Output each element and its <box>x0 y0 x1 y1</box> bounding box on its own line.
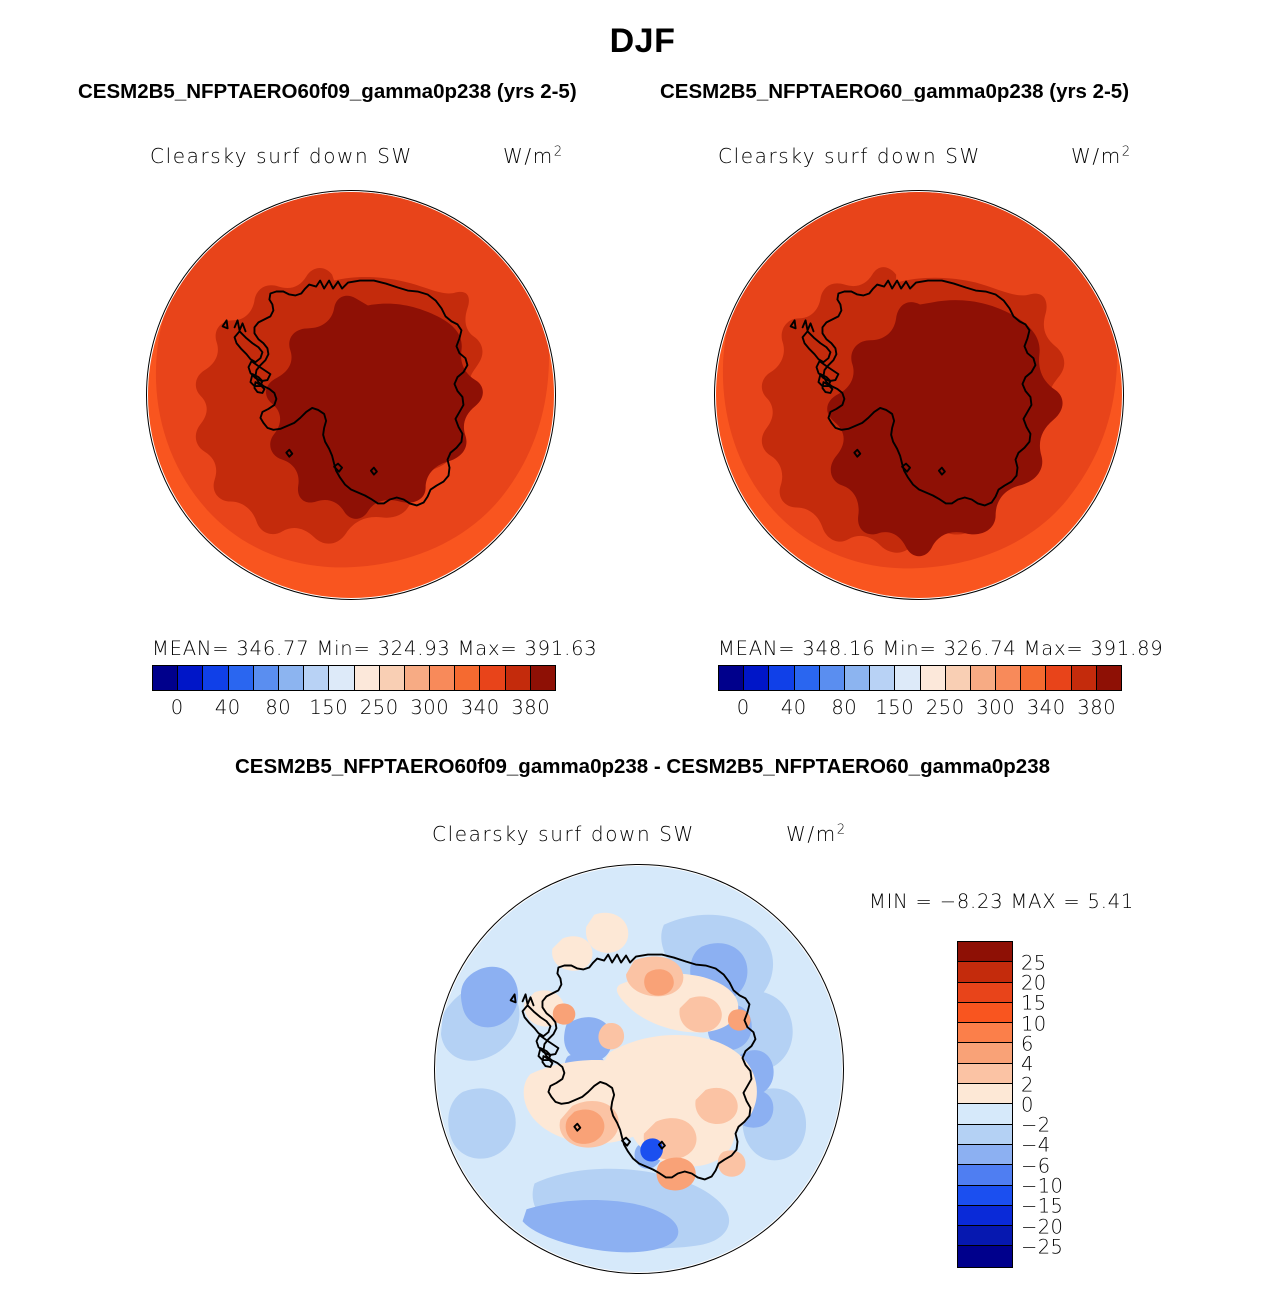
colorbar-left-cell-8 <box>355 666 380 690</box>
page-title: DJF <box>0 22 1285 61</box>
field-label-diff: Clearsky surf down SW <box>432 822 695 846</box>
colorbar-left-cell-1 <box>178 666 203 690</box>
colorbar-difference-cell-12 <box>958 1186 1012 1206</box>
colorbar-left-cell-3 <box>229 666 254 690</box>
colorbar-difference-cell-1 <box>958 962 1012 982</box>
colorbar-right-cells[interactable] <box>718 665 1122 691</box>
map-right-svg <box>715 191 1123 599</box>
colorbar-right-cell-14 <box>1072 666 1097 690</box>
colorbar-right-cell-8 <box>921 666 946 690</box>
unit-label-right: W/m2 <box>1071 144 1130 168</box>
colorbar-left-tick-7: 380 <box>511 696 550 719</box>
colorbar-difference-labels: 252015106420−2−4−6−10−15−20−25 <box>1021 941 1091 1271</box>
colorbar-difference-cell-4 <box>958 1023 1012 1043</box>
colorbar-left-cell-14 <box>506 666 531 690</box>
colorbar-left-tick-3: 150 <box>309 696 348 719</box>
colorbar-left-tick-1: 40 <box>215 696 241 719</box>
colorbar-right-tick-7: 380 <box>1077 696 1116 719</box>
diff-stats: MIN = −8.23 MAX = 5.41 <box>869 890 1134 913</box>
colorbar-difference-cell-8 <box>958 1104 1012 1124</box>
colorbar-left-cell-12 <box>455 666 480 690</box>
panel-title-right: CESM2B5_NFPTAERO60_gamma0p238 (yrs 2-5) <box>660 80 1129 104</box>
field-label-right: Clearsky surf down SW <box>718 144 981 168</box>
panel-title-left: CESM2B5_NFPTAERO60f09_gamma0p238 (yrs 2-… <box>78 80 577 104</box>
colorbar-right-cell-0 <box>719 666 744 690</box>
colorbar-difference-cell-5 <box>958 1043 1012 1063</box>
colorbar-right-cell-13 <box>1046 666 1071 690</box>
stats-left: MEAN= 346.77 Min= 324.93 Max= 391.63 <box>152 637 598 660</box>
colorbar-right-cell-5 <box>845 666 870 690</box>
colorbar-right-tick-5: 300 <box>976 696 1015 719</box>
colorbar-difference-cells[interactable] <box>957 941 1013 1268</box>
colorbar-difference-cell-7 <box>958 1084 1012 1104</box>
colorbar-right-cell-7 <box>895 666 920 690</box>
colorbar-left-tick-5: 300 <box>410 696 449 719</box>
colorbar-left[interactable]: 04080150250300340380 <box>152 665 556 691</box>
colorbar-left-cell-11 <box>430 666 455 690</box>
colorbar-difference-cell-0 <box>958 942 1012 962</box>
colorbar-left-cell-0 <box>153 666 178 690</box>
diff-panel-title: CESM2B5_NFPTAERO60f09_gamma0p238 - CESM2… <box>0 755 1285 779</box>
map-difference[interactable] <box>434 864 844 1274</box>
colorbar-difference-cell-2 <box>958 983 1012 1003</box>
colorbar-difference-cell-3 <box>958 1003 1012 1023</box>
colorbar-right-tick-4: 250 <box>926 696 965 719</box>
unit-label-diff: W/m2 <box>786 822 845 846</box>
colorbar-right-cell-10 <box>971 666 996 690</box>
colorbar-right-cell-15 <box>1097 666 1121 690</box>
colorbar-right-tick-0: 0 <box>737 696 750 719</box>
map-left-svg <box>147 191 555 599</box>
unit-exponent-left: 2 <box>554 144 562 159</box>
colorbar-right-labels: 04080150250300340380 <box>718 696 1122 726</box>
colorbar-right-cell-2 <box>769 666 794 690</box>
colorbar-right-tick-1: 40 <box>781 696 807 719</box>
map-right-absolute[interactable] <box>714 190 1124 600</box>
colorbar-right-cell-11 <box>996 666 1021 690</box>
unit-text-left: W/m <box>503 144 554 168</box>
colorbar-right-cell-3 <box>795 666 820 690</box>
map-left-absolute[interactable] <box>146 190 556 600</box>
colorbar-left-labels: 04080150250300340380 <box>152 696 556 726</box>
colorbar-difference-cell-11 <box>958 1165 1012 1185</box>
colorbar-left-cell-13 <box>480 666 505 690</box>
colorbar-left-cell-15 <box>531 666 555 690</box>
colorbar-left-tick-4: 250 <box>360 696 399 719</box>
colorbar-left-cell-6 <box>304 666 329 690</box>
map-diff-svg <box>435 865 843 1273</box>
colorbar-difference[interactable] <box>957 941 1013 1268</box>
colorbar-left-cell-5 <box>279 666 304 690</box>
colorbar-right-cell-4 <box>820 666 845 690</box>
colorbar-difference-cell-10 <box>958 1145 1012 1165</box>
colorbar-difference-cell-9 <box>958 1125 1012 1145</box>
colorbar-right-cell-1 <box>744 666 769 690</box>
colorbar-right-tick-2: 80 <box>831 696 857 719</box>
colorbar-left-cells[interactable] <box>152 665 556 691</box>
unit-exponent-diff: 2 <box>837 822 845 837</box>
colorbar-difference-cell-13 <box>958 1206 1012 1226</box>
colorbar-right-cell-6 <box>870 666 895 690</box>
field-label-left: Clearsky surf down SW <box>150 144 413 168</box>
colorbar-right[interactable]: 04080150250300340380 <box>718 665 1122 691</box>
colorbar-left-cell-7 <box>329 666 354 690</box>
unit-text-diff: W/m <box>786 822 837 846</box>
colorbar-left-tick-6: 340 <box>461 696 500 719</box>
colorbar-left-cell-2 <box>203 666 228 690</box>
colorbar-right-cell-12 <box>1021 666 1046 690</box>
colorbar-left-cell-4 <box>254 666 279 690</box>
colorbar-right-tick-6: 340 <box>1027 696 1066 719</box>
unit-exponent-right: 2 <box>1122 144 1130 159</box>
colorbar-right-tick-3: 150 <box>875 696 914 719</box>
colorbar-left-cell-9 <box>380 666 405 690</box>
colorbar-left-tick-0: 0 <box>171 696 184 719</box>
colorbar-difference-cell-15 <box>958 1246 1012 1266</box>
unit-text-right: W/m <box>1071 144 1122 168</box>
colorbar-difference-tick-14: −25 <box>1021 1235 1063 1258</box>
colorbar-difference-cell-6 <box>958 1064 1012 1084</box>
stats-right: MEAN= 348.16 Min= 326.74 Max= 391.89 <box>718 637 1164 660</box>
colorbar-left-cell-10 <box>405 666 430 690</box>
colorbar-difference-cell-14 <box>958 1226 1012 1246</box>
unit-label-left: W/m2 <box>503 144 562 168</box>
colorbar-right-cell-9 <box>946 666 971 690</box>
colorbar-left-tick-2: 80 <box>265 696 291 719</box>
